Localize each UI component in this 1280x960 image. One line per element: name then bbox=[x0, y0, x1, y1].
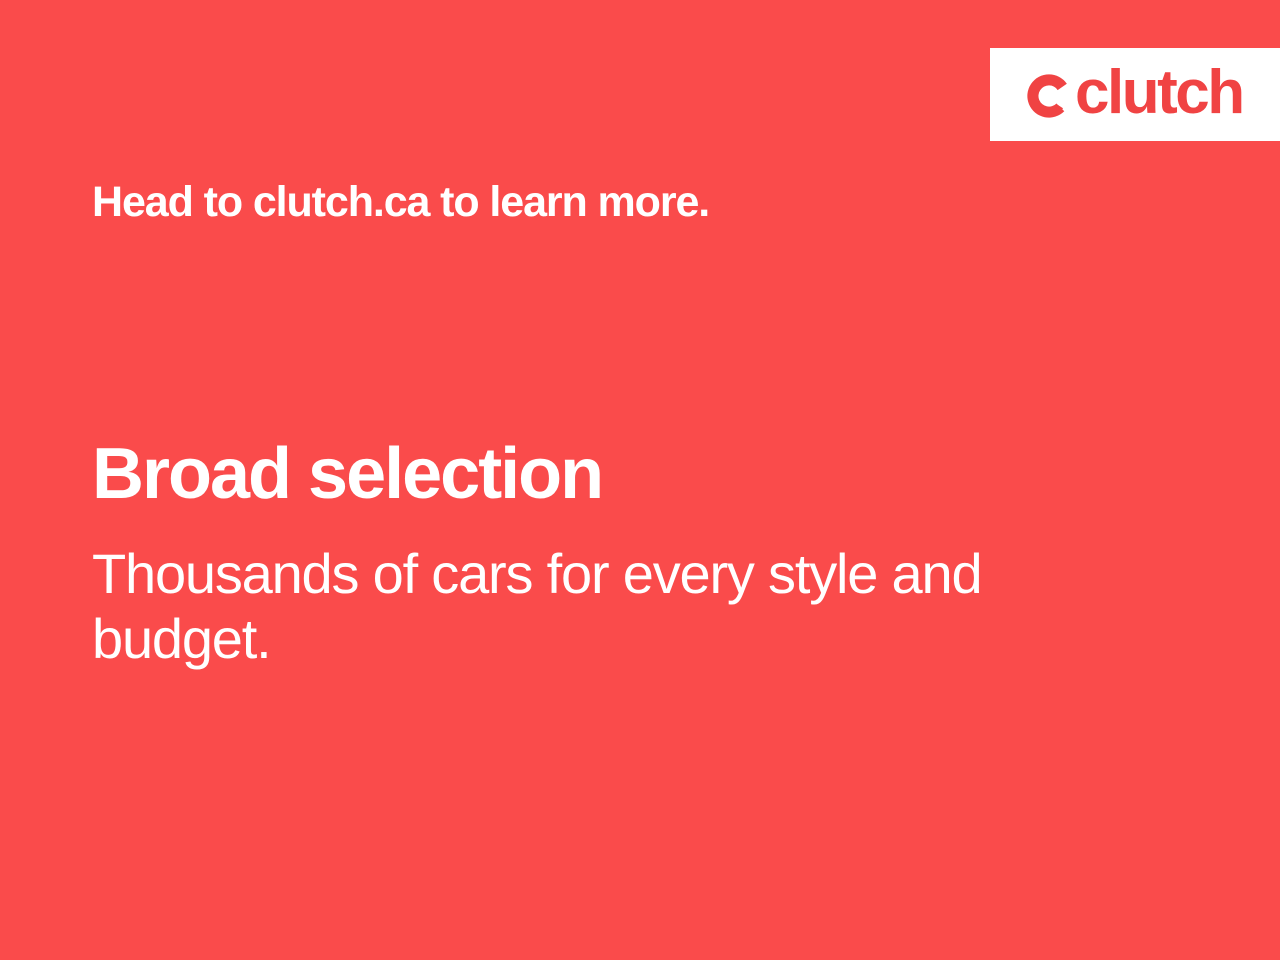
clutch-wordmark: clutch bbox=[1075, 62, 1243, 124]
promo-slide: clutch Head to clutch.ca to learn more. … bbox=[0, 0, 1280, 960]
page-title: Broad selection bbox=[92, 437, 602, 513]
clutch-disc-icon bbox=[1026, 73, 1072, 119]
eyebrow-text: Head to clutch.ca to learn more. bbox=[92, 178, 709, 227]
clutch-logo-lockup: clutch bbox=[1026, 64, 1243, 126]
clutch-logo-plate[interactable]: clutch bbox=[990, 48, 1280, 141]
subcopy-text: Thousands of cars for every style and bu… bbox=[92, 542, 1052, 672]
